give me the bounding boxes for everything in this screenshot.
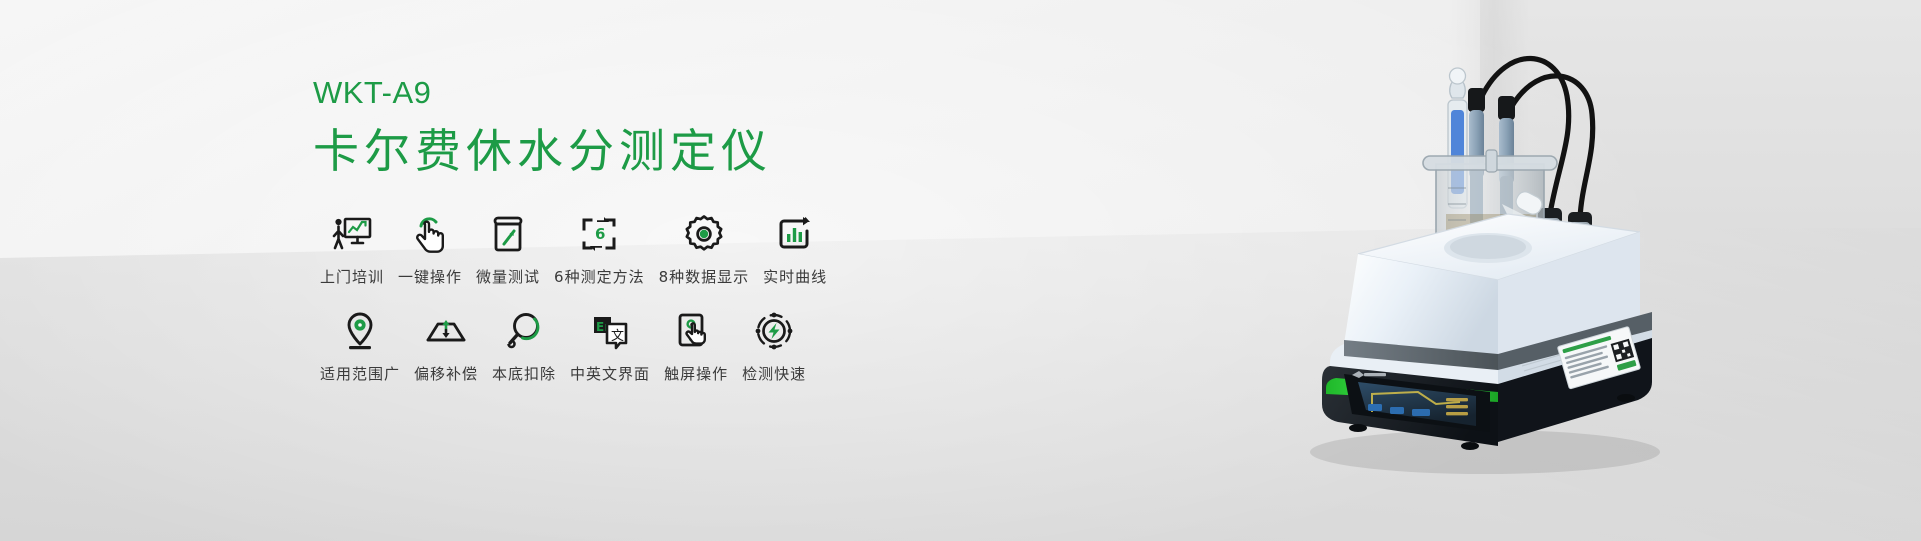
product-model: WKT-A9 [313, 74, 772, 111]
feature-label: 中英文界面 [570, 363, 650, 384]
feature-item-drift-compensation[interactable]: 偏移补偿 [407, 310, 485, 384]
gear-data-icon [684, 213, 724, 255]
feature-item-training[interactable]: 上门培训 [313, 213, 391, 287]
feature-label: 实时曲线 [763, 266, 827, 287]
feature-label: 触屏操作 [664, 363, 728, 384]
feature-label: 检测快速 [742, 363, 806, 384]
feature-item-eight-data-displays[interactable]: 8种数据显示 [652, 213, 757, 287]
feature-item-realtime-curve[interactable]: 实时曲线 [756, 213, 834, 287]
feature-label: 适用范围广 [320, 363, 400, 384]
feature-item-wide-application[interactable]: 适用范围广 [313, 310, 407, 384]
feature-item-micro-test[interactable]: 微量测试 [469, 213, 547, 287]
svg-text:6: 6 [595, 225, 605, 243]
feature-label: 6种测定方法 [554, 266, 645, 287]
feature-label: 本底扣除 [492, 363, 556, 384]
training-presentation-icon [331, 213, 373, 255]
feature-label: 一键操作 [398, 266, 462, 287]
feature-label: 偏移补偿 [414, 363, 478, 384]
hand-click-icon [410, 213, 450, 255]
feature-item-fast-detection[interactable]: 检测快速 [735, 310, 813, 384]
feature-row-1: 上门培训 一键操作 [313, 213, 923, 287]
product-banner: WKT-A9 卡尔费休水分测定仪 [0, 0, 1921, 541]
feature-label: 8种数据显示 [659, 266, 750, 287]
touchscreen-icon [676, 310, 716, 352]
headline-block: WKT-A9 卡尔费休水分测定仪 [313, 74, 772, 181]
feature-grid: 上门培训 一键操作 [313, 213, 923, 384]
fast-lightning-icon [754, 310, 794, 352]
feature-item-background-deduction[interactable]: 本底扣除 [485, 310, 563, 384]
realtime-chart-icon [775, 213, 815, 255]
magnifier-icon [505, 310, 543, 352]
product-photo-karl-fischer-titrator [1240, 18, 1710, 488]
feature-item-bilingual-interface[interactable]: En 文 中英文界面 [563, 310, 657, 384]
location-pin-icon [343, 310, 377, 352]
feature-item-one-key-operation[interactable]: 一键操作 [391, 213, 469, 287]
drift-compensation-icon [425, 310, 467, 352]
methods-exchange-icon: 6 [580, 213, 618, 255]
feature-label: 微量测试 [476, 266, 540, 287]
micro-test-icon [491, 213, 525, 255]
feature-row-2: 适用范围广 偏移补偿 [313, 310, 923, 384]
product-title: 卡尔费休水分测定仪 [313, 123, 772, 181]
feature-item-six-methods[interactable]: 6 6种测定方法 [547, 213, 652, 287]
feature-label: 上门培训 [320, 266, 384, 287]
svg-text:文: 文 [611, 329, 624, 344]
translate-en-cn-icon: En 文 [590, 310, 630, 352]
feature-item-touchscreen-operation[interactable]: 触屏操作 [657, 310, 735, 384]
